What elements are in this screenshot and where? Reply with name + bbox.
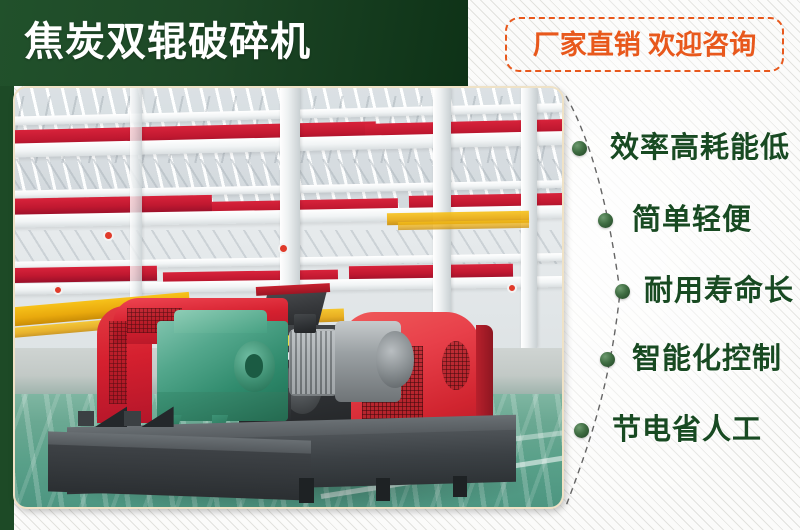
title-banner: 焦炭双辊破碎机 (0, 0, 468, 86)
wall-sign-icon (103, 230, 114, 241)
left-green-rail (0, 78, 14, 530)
feature-bullet-4 (600, 352, 615, 367)
feature-bullet-5 (574, 423, 589, 438)
promo-badge[interactable]: 厂家直销 欢迎咨询 (505, 17, 784, 72)
promo-banner-page: 焦炭双辊破碎机 厂家直销 欢迎咨询 (0, 0, 800, 530)
feature-item-4: 智能化控制 (632, 342, 782, 376)
page-title: 焦炭双辊破碎机 (24, 17, 311, 67)
feature-item-5: 节电省人工 (612, 413, 762, 447)
feature-bullet-1 (572, 141, 587, 156)
wall-sign-icon (278, 243, 289, 254)
feature-bullet-3 (615, 284, 630, 299)
feature-bullet-2 (598, 213, 613, 228)
product-photo (13, 86, 564, 509)
feature-item-2: 简单轻便 (632, 203, 752, 237)
feature-item-3: 耐用寿命长 (644, 274, 794, 308)
feature-item-1: 效率高耗能低 (610, 131, 790, 165)
promo-badge-label: 厂家直销 欢迎咨询 (533, 30, 757, 60)
